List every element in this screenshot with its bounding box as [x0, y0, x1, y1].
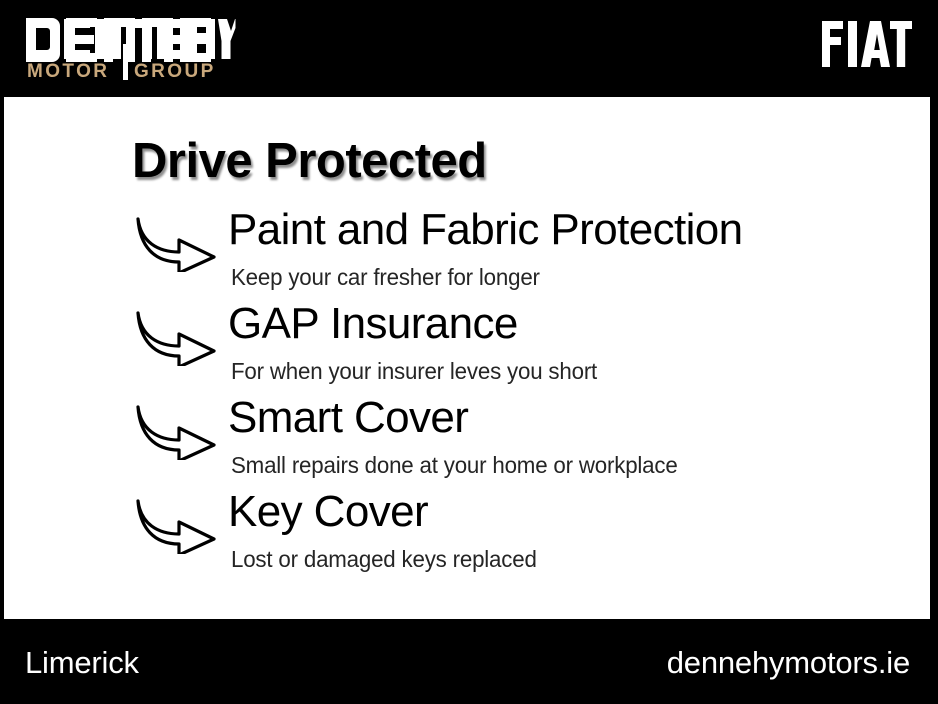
benefit-subtitle: Small repairs done at your home or workp…	[231, 454, 678, 477]
logo-separator-bar	[123, 44, 128, 80]
benefit-title: Smart Cover	[228, 396, 468, 440]
header-bar: MOTOR GROUP	[0, 0, 938, 94]
list-item: Paint and Fabric Protection Keep your ca…	[4, 212, 930, 306]
content-panel: Drive Protected Paint and Fabric Protect…	[4, 97, 930, 619]
curved-arrow-icon	[132, 498, 218, 554]
curved-arrow-icon	[132, 310, 218, 366]
list-item: Key Cover Lost or damaged keys replaced	[4, 494, 930, 588]
footer-location: Limerick	[25, 645, 139, 681]
benefit-title: GAP Insurance	[228, 302, 518, 346]
list-item: GAP Insurance For when your insurer leve…	[4, 306, 930, 400]
advert-slide: MOTOR GROUP Drive Protecte	[0, 0, 938, 704]
benefits-list: Paint and Fabric Protection Keep your ca…	[4, 212, 930, 588]
benefit-title: Paint and Fabric Protection	[228, 208, 743, 252]
dennehy-motor-group-logo: MOTOR GROUP	[24, 16, 236, 82]
fiat-logo	[820, 19, 912, 69]
list-item: Smart Cover Small repairs done at your h…	[4, 400, 930, 494]
curved-arrow-icon	[132, 216, 218, 272]
benefit-subtitle: Keep your car fresher for longer	[231, 266, 540, 289]
benefit-subtitle: For when your insurer leves you short	[231, 360, 597, 383]
benefit-subtitle: Lost or damaged keys replaced	[231, 548, 537, 571]
dennehy-logo-text-overlay: MOTOR GROUP	[24, 16, 236, 82]
benefit-title: Key Cover	[228, 490, 428, 534]
logo-tagline-motor: MOTOR	[27, 61, 109, 82]
page-title: Drive Protected	[132, 133, 487, 189]
fiat-logo-icon	[820, 19, 912, 69]
footer-bar: Limerick dennehymotors.ie	[0, 622, 938, 704]
footer-website[interactable]: dennehymotors.ie	[667, 645, 910, 681]
logo-tagline-group: GROUP	[134, 61, 216, 82]
content-panel-wrapper: Drive Protected Paint and Fabric Protect…	[0, 94, 938, 622]
curved-arrow-icon	[132, 404, 218, 460]
